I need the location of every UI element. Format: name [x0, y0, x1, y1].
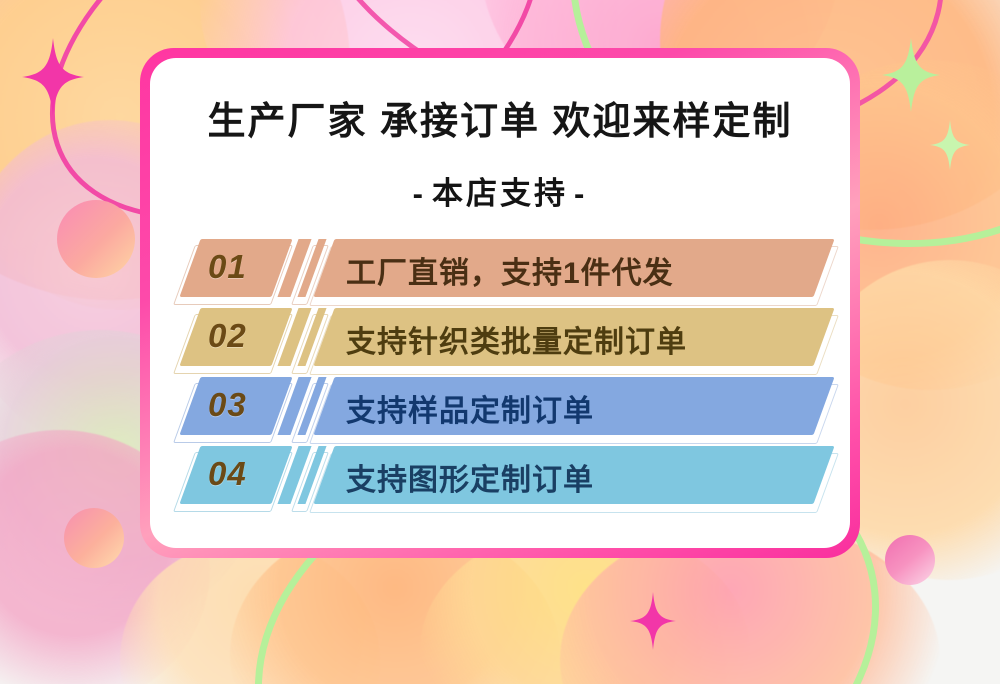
feature-row: 02支持针织类批量定制订单 [184, 308, 816, 366]
subheading: -本店支持- [184, 168, 816, 213]
row-feature-text: 支持针织类批量定制订单 [346, 317, 687, 361]
row-feature-text: 支持样品定制订单 [346, 386, 594, 430]
main-card: 生产厂家 承接订单 欢迎来样定制 -本店支持- 01工厂直销，支持1件代发02支… [140, 48, 860, 558]
sparkle-pink-bottom-right [630, 592, 676, 650]
feature-row: 01工厂直销，支持1件代发 [184, 239, 816, 297]
row-number-label: 01 [208, 248, 247, 286]
row-number-label: 04 [208, 455, 247, 493]
card-inner: 生产厂家 承接订单 欢迎来样定制 -本店支持- 01工厂直销，支持1件代发02支… [150, 58, 850, 548]
sparkle-green-top-right [882, 38, 940, 112]
gradient-sphere-right-lower [885, 535, 935, 585]
page-title: 生产厂家 承接订单 欢迎来样定制 [184, 100, 816, 146]
feature-row: 03支持样品定制订单 [184, 377, 816, 435]
feature-row: 04支持图形定制订单 [184, 446, 816, 504]
row-feature-text: 支持图形定制订单 [346, 455, 594, 499]
gradient-sphere-left-upper [57, 200, 135, 278]
subheading-text: 本店支持 [432, 176, 568, 211]
row-number-label: 03 [208, 386, 247, 424]
sparkle-pink-top-left [22, 38, 84, 116]
row-feature-text: 工厂直销，支持1件代发 [346, 248, 674, 292]
row-number-label: 02 [208, 317, 247, 355]
poster-canvas: 生产厂家 承接订单 欢迎来样定制 -本店支持- 01工厂直销，支持1件代发02支… [0, 0, 1000, 684]
sparkle-green-right [930, 120, 970, 170]
feature-row-list: 01工厂直销，支持1件代发02支持针织类批量定制订单03支持样品定制订单04支持… [184, 239, 816, 504]
subheading-dash-left: - [407, 176, 432, 211]
gradient-sphere-left-lower [64, 508, 124, 568]
subheading-dash-right: - [568, 176, 593, 211]
